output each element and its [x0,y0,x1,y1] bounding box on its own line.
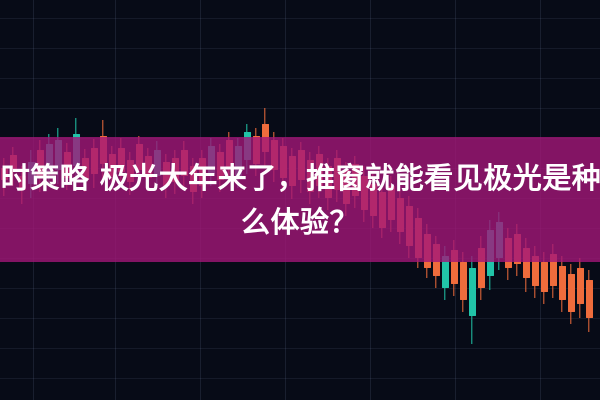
candle-body [586,280,593,318]
candlestick [568,264,575,324]
candle-body [568,274,575,312]
headline-banner: 迪时策略 极光大年来了，推窗就能看见极光是种什 么体验？ [0,137,600,262]
candlestick [577,258,584,318]
candle-body [559,266,566,300]
candlestick [559,256,566,312]
chart-screenshot: 迪时策略 极光大年来了，推窗就能看见极光是种什 么体验？ [0,0,600,400]
candlestick [586,270,593,332]
candlestick [469,256,476,344]
candle-body [577,268,584,304]
headline-line-2: 么体验？ [241,200,359,244]
headline-line-1: 迪时策略 极光大年来了，推窗就能看见极光是种什 [0,156,600,200]
candle-body [460,262,467,300]
candle-body [541,262,548,292]
candle-body [469,268,476,316]
